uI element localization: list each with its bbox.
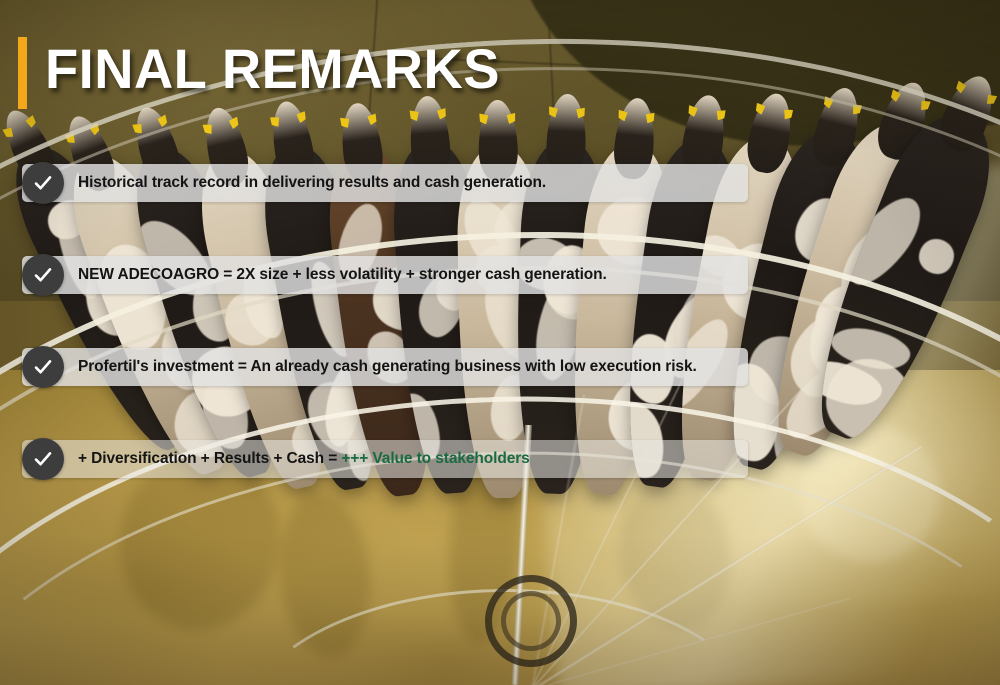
bullet-text: + Diversification + Results + Cash = +++… [78, 451, 530, 467]
list-item: NEW ADECOAGRO = 2X size + less volatilit… [0, 256, 607, 294]
check-circle-icon [22, 162, 64, 204]
slide-final-remarks: FINAL REMARKS Historical track record in… [0, 0, 1000, 685]
bullet-text-highlight: +++ Value to stakeholders [341, 450, 529, 467]
bullet-list: Historical track record in delivering re… [0, 0, 1000, 685]
bullet-text: NEW ADECOAGRO = 2X size + less volatilit… [78, 267, 607, 283]
check-circle-icon [22, 346, 64, 388]
check-circle-icon [22, 254, 64, 296]
list-item: + Diversification + Results + Cash = +++… [0, 440, 530, 478]
check-circle-icon [22, 438, 64, 480]
list-item: Profertil's investment = An already cash… [0, 348, 697, 386]
bullet-text-plain: + Diversification + Results + Cash = [78, 450, 341, 467]
bullet-text: Profertil's investment = An already cash… [78, 359, 697, 375]
list-item: Historical track record in delivering re… [0, 164, 546, 202]
bullet-text: Historical track record in delivering re… [78, 175, 546, 191]
